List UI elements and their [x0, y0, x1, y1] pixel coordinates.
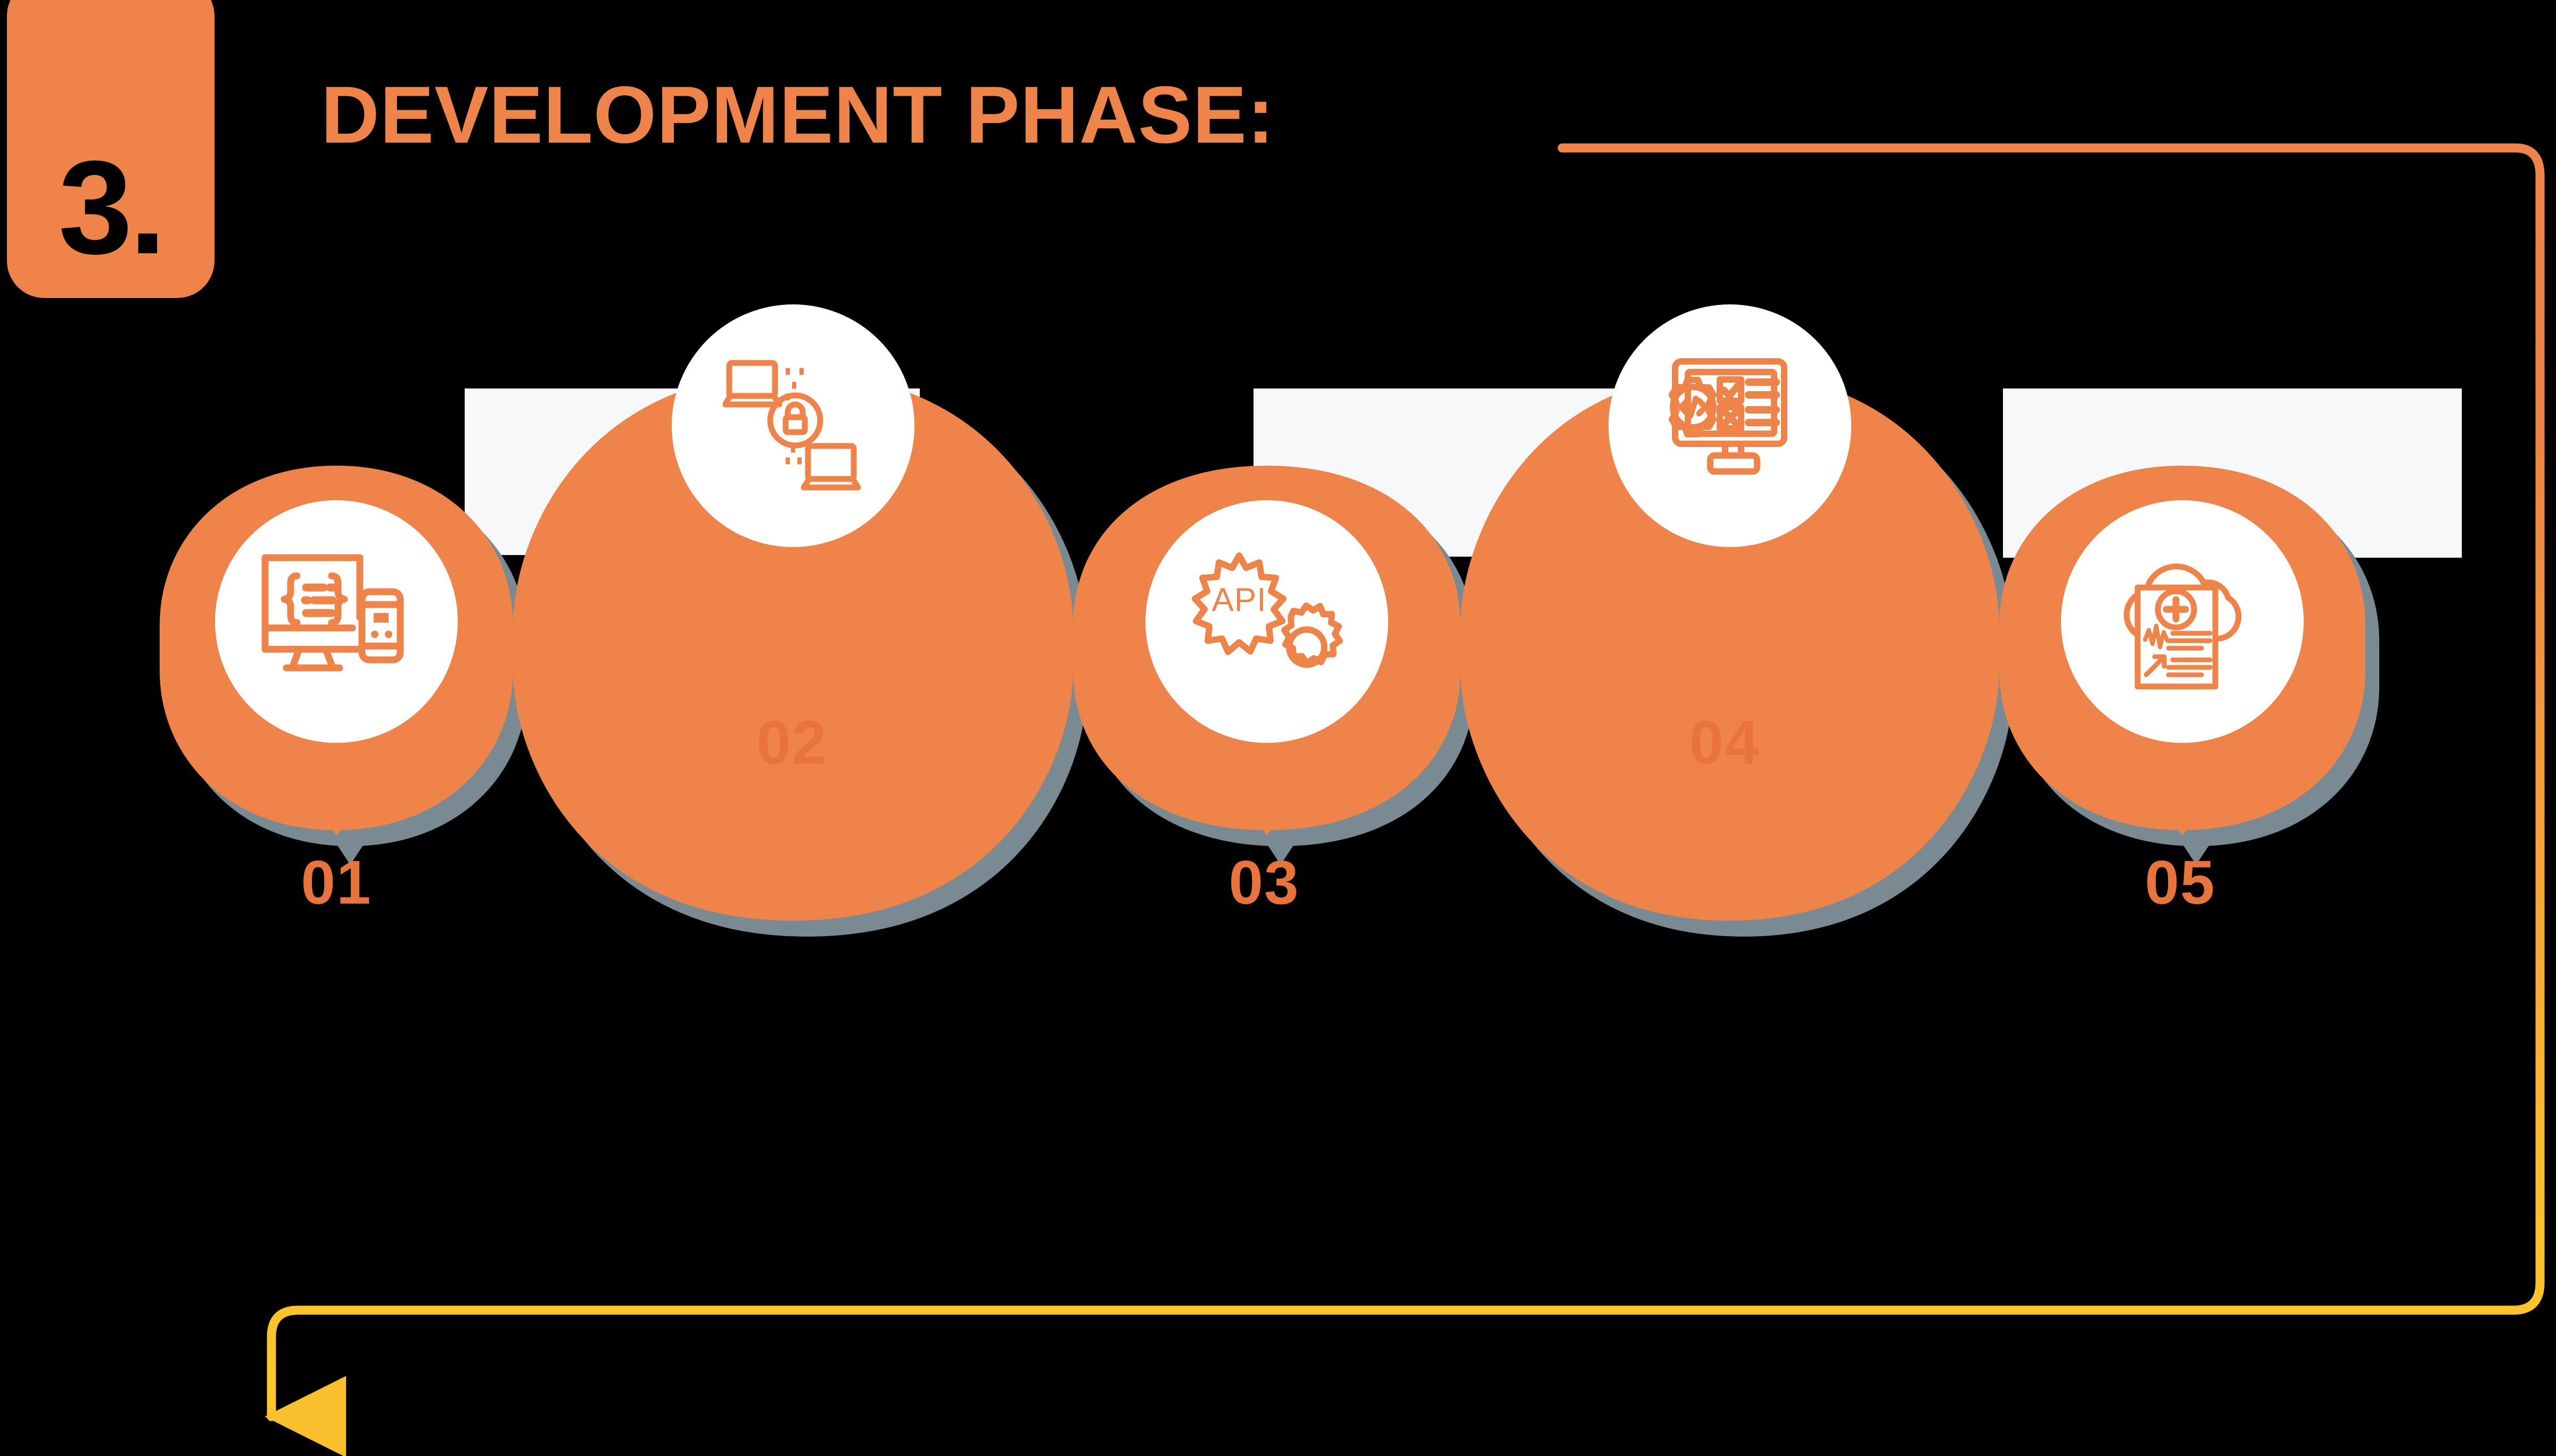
- page-title: DEVELOPMENT PHASE:: [321, 75, 1275, 155]
- monitor-code-gear-checklist-icon: [1653, 354, 1812, 498]
- connector-bracket-layer: [0, 0, 2556, 1456]
- content-panel-2: [1254, 388, 1621, 557]
- header-to-bottom-connector: [271, 148, 2540, 1417]
- step-label-05: 05: [2100, 851, 2260, 913]
- step-label-01: 01: [257, 851, 416, 913]
- laptops-secure-lock-icon: [723, 355, 867, 499]
- step-label-02: 02: [712, 712, 872, 773]
- monitor-code-mobile-icon: [255, 548, 415, 692]
- slide-canvas: API: [0, 0, 2556, 1456]
- svg-text:API: API: [1212, 582, 1267, 618]
- step-number-value: 3.: [59, 154, 163, 261]
- api-gears-icon: API: [1186, 548, 1346, 697]
- step-label-04: 04: [1645, 712, 1804, 773]
- step-number-badge: 3.: [7, 0, 215, 298]
- process-ribbon-layer: [0, 0, 2556, 1456]
- content-panel-3: [2003, 388, 2462, 558]
- cloud-medical-report-icon: [2108, 549, 2257, 693]
- step-label-03: 03: [1184, 851, 1344, 913]
